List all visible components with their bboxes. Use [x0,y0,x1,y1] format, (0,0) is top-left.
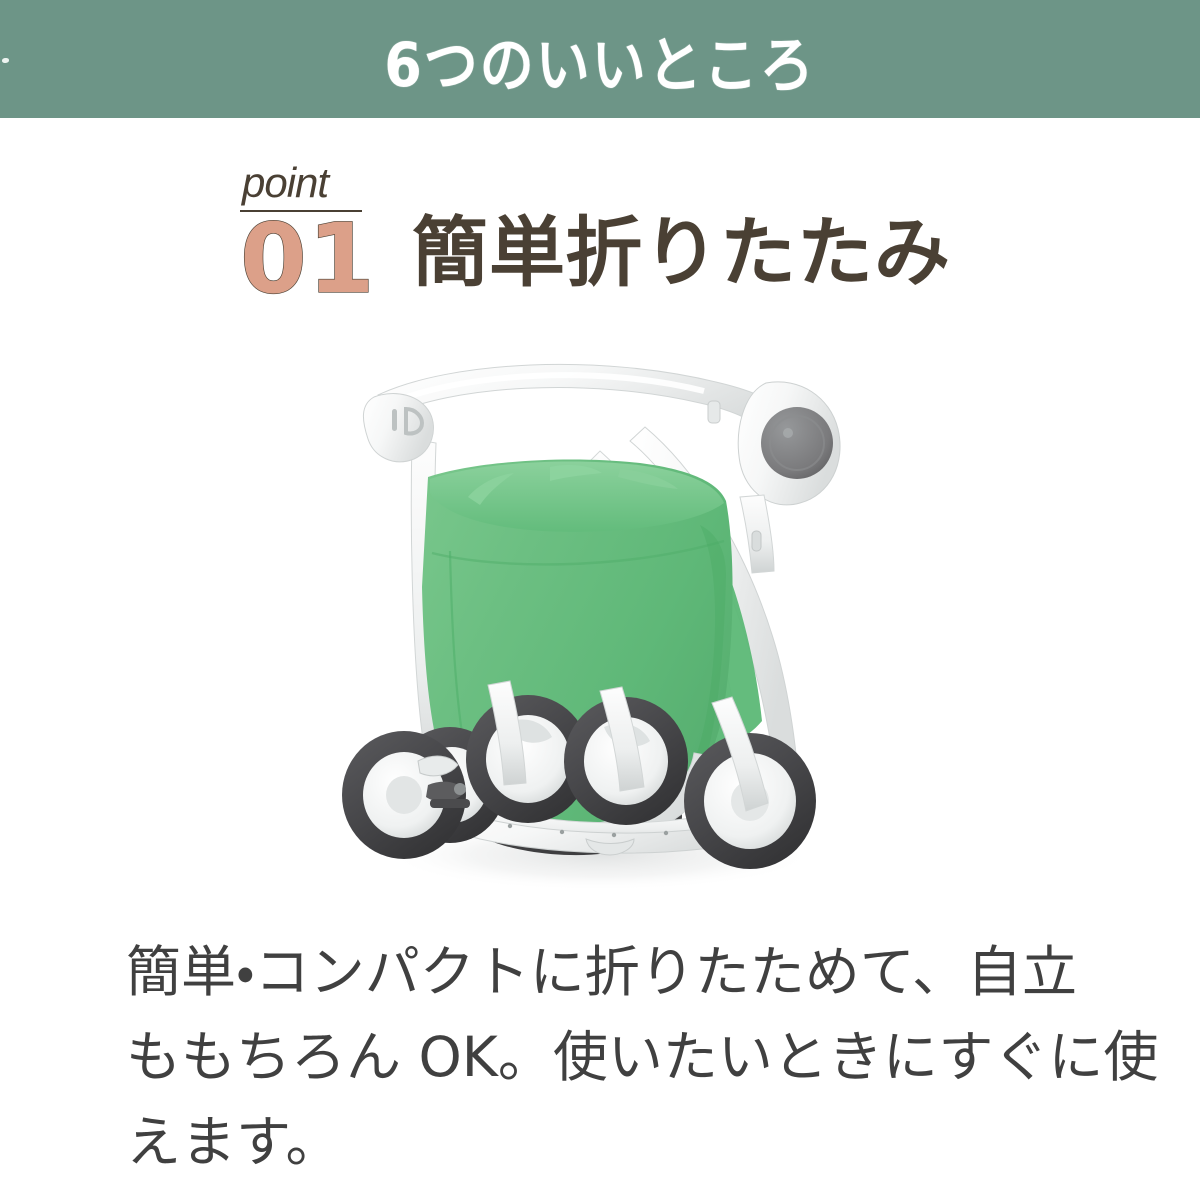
beam-rivet-1 [508,824,512,828]
description-line-2: ももちろん OK。使いたいときにすぐに使 [126,1015,1116,1100]
point-label: point [238,162,408,204]
handle-mid-latch [708,401,720,423]
stroller-illustration [300,355,900,900]
banner-speck-decoration [2,58,9,63]
page-title: 簡単折りたたみ [412,215,951,291]
hinge-arm-latch [752,531,761,551]
handle-left-clip [363,394,433,462]
banner-title: 6つのいいところ [384,15,816,103]
product-image-folded-stroller [300,355,900,900]
description-paragraph: 簡単・コンパクトに折りたためて、自立 ももちろん OK。使いたいときにすぐに使 … [126,930,1116,1185]
beam-rivet-4 [664,831,668,835]
beam-rivet-2 [560,830,564,834]
section-banner: 6つのいいところ [0,0,1200,118]
point-badge: point 01 [238,162,408,305]
beam-rivet-3 [612,833,616,837]
point-01-page: 6つのいいところ point 01 簡単折りたたみ [0,0,1200,1200]
handle-right-hinge-joint [738,382,840,505]
description-line-3: えます。 [126,1100,1116,1185]
description-line-1: 簡単・コンパクトに折りたためて、自立 [126,930,1116,1015]
point-number: 01 [240,214,408,305]
